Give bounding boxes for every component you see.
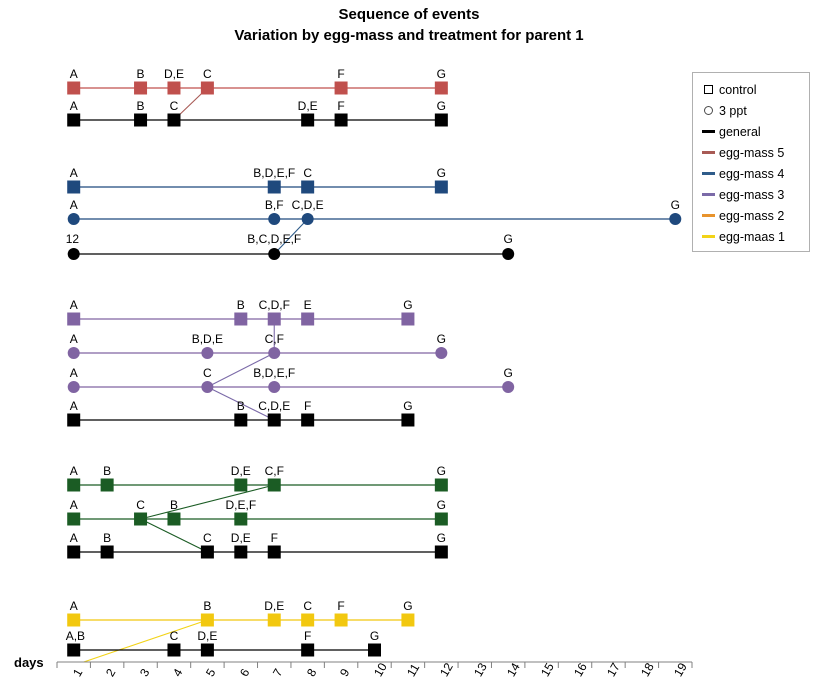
data-point-marker xyxy=(335,614,348,627)
data-point-marker xyxy=(234,546,247,559)
data-point-marker xyxy=(435,479,448,492)
legend-line-icon xyxy=(700,188,716,202)
data-point-label: E xyxy=(304,299,312,311)
data-point-marker xyxy=(435,546,448,559)
data-point-marker xyxy=(167,644,180,657)
data-point-label: F xyxy=(337,100,344,112)
data-point-label: D,E xyxy=(298,100,318,112)
data-point-label: D,E xyxy=(264,600,284,612)
data-point-marker xyxy=(234,479,247,492)
data-point-label: 12 xyxy=(66,233,79,245)
data-point-marker xyxy=(268,381,280,393)
data-point-marker xyxy=(268,479,281,492)
line-icon xyxy=(702,151,715,154)
data-point-marker xyxy=(68,213,80,225)
data-point-label: G xyxy=(437,333,446,345)
data-point-marker xyxy=(134,82,147,95)
connector-line xyxy=(84,620,208,662)
legend-item[interactable]: egg-mass 4 xyxy=(693,163,809,184)
line-icon xyxy=(702,235,715,238)
data-point-label: G xyxy=(437,532,446,544)
legend-line-icon xyxy=(700,125,716,139)
data-point-marker xyxy=(268,181,281,194)
data-point-marker xyxy=(201,546,214,559)
data-point-label: C xyxy=(203,367,212,379)
data-point-label: C xyxy=(170,100,179,112)
legend-item[interactable]: egg-mass 2 xyxy=(693,205,809,226)
data-point-label: F xyxy=(304,630,311,642)
data-point-marker xyxy=(167,82,180,95)
data-point-label: C xyxy=(203,68,212,80)
data-point-marker xyxy=(234,313,247,326)
data-point-label: C,D,F xyxy=(259,299,290,311)
data-point-marker xyxy=(201,644,214,657)
data-point-label: F xyxy=(337,68,344,80)
data-point-marker xyxy=(68,347,80,359)
data-point-label: G xyxy=(437,499,446,511)
data-point-label: B,C,D,E,F xyxy=(247,233,301,245)
legend-square-icon xyxy=(700,83,716,97)
legend-item-label: egg-mass 3 xyxy=(719,188,784,202)
data-point-label: G xyxy=(504,233,513,245)
legend-item-label: egg-mass 2 xyxy=(719,209,784,223)
data-point-label: B xyxy=(137,100,145,112)
data-point-label: B xyxy=(237,400,245,412)
data-point-label: C,F xyxy=(265,333,284,345)
data-point-marker xyxy=(335,82,348,95)
data-point-marker xyxy=(268,614,281,627)
data-point-marker xyxy=(201,614,214,627)
legend-item-label: egg-mass 4 xyxy=(719,167,784,181)
data-point-marker xyxy=(67,414,80,427)
data-point-marker xyxy=(68,381,80,393)
data-point-label: B,D,E,F xyxy=(253,167,295,179)
data-point-label: G xyxy=(437,100,446,112)
legend-item[interactable]: egg-maas 1 xyxy=(693,226,809,247)
data-point-marker xyxy=(301,181,314,194)
data-point-marker xyxy=(435,513,448,526)
data-point-marker xyxy=(68,248,80,260)
chart-canvas: Sequence of events Variation by egg-mass… xyxy=(0,0,818,690)
legend-item[interactable]: general xyxy=(693,121,809,142)
legend-item-label: control xyxy=(719,83,757,97)
data-point-marker xyxy=(268,546,281,559)
data-point-marker xyxy=(167,513,180,526)
legend-line-icon xyxy=(700,209,716,223)
data-point-label: G xyxy=(403,600,412,612)
data-point-marker xyxy=(201,347,213,359)
data-point-label: B,F xyxy=(265,199,284,211)
data-point-label: C xyxy=(303,167,312,179)
data-point-marker xyxy=(335,114,348,127)
data-point-label: A xyxy=(70,600,78,612)
data-point-label: C xyxy=(303,600,312,612)
data-point-marker xyxy=(67,181,80,194)
data-point-marker xyxy=(401,614,414,627)
data-point-marker xyxy=(67,114,80,127)
data-point-marker xyxy=(268,213,280,225)
data-point-marker xyxy=(67,313,80,326)
data-point-marker xyxy=(101,479,114,492)
x-axis-title: days xyxy=(14,655,44,670)
data-point-label: D,E xyxy=(231,532,251,544)
data-point-marker xyxy=(134,513,147,526)
data-point-marker xyxy=(435,114,448,127)
data-point-marker xyxy=(302,213,314,225)
data-point-marker xyxy=(67,614,80,627)
data-point-label: D,E,F xyxy=(225,499,256,511)
data-point-marker xyxy=(301,614,314,627)
data-point-label: A xyxy=(70,167,78,179)
data-point-label: G xyxy=(504,367,513,379)
data-point-label: A xyxy=(70,499,78,511)
data-point-label: F xyxy=(271,532,278,544)
data-point-label: G xyxy=(403,299,412,311)
legend-line-icon xyxy=(700,167,716,181)
data-point-label: A xyxy=(70,367,78,379)
legend-item-label: 3 ppt xyxy=(719,104,747,118)
data-point-marker xyxy=(201,381,213,393)
data-point-marker xyxy=(268,414,281,427)
data-point-marker xyxy=(301,414,314,427)
data-point-marker xyxy=(167,114,180,127)
data-point-label: B xyxy=(170,499,178,511)
line-icon xyxy=(702,214,715,217)
data-point-label: D,E xyxy=(164,68,184,80)
data-point-label: F xyxy=(304,400,311,412)
data-point-marker xyxy=(67,82,80,95)
line-icon xyxy=(702,172,715,175)
data-point-marker xyxy=(368,644,381,657)
legend-item[interactable]: egg-mass 5 xyxy=(693,142,809,163)
data-point-label: A xyxy=(70,400,78,412)
line-icon xyxy=(702,193,715,196)
line-icon xyxy=(702,130,715,133)
data-point-label: G xyxy=(370,630,379,642)
data-point-label: F xyxy=(337,600,344,612)
data-point-marker xyxy=(435,347,447,359)
data-point-label: B,D,E,F xyxy=(253,367,295,379)
legend-line-icon xyxy=(700,146,716,160)
data-point-marker xyxy=(401,313,414,326)
data-point-label: C xyxy=(170,630,179,642)
data-point-label: B xyxy=(103,532,111,544)
data-point-label: B xyxy=(237,299,245,311)
data-point-label: G xyxy=(437,167,446,179)
data-point-label: C,D,E xyxy=(292,199,324,211)
legend-line-icon xyxy=(700,230,716,244)
data-point-label: B xyxy=(137,68,145,80)
data-point-marker xyxy=(301,114,314,127)
data-point-label: G xyxy=(403,400,412,412)
data-point-marker xyxy=(67,546,80,559)
legend-item-label: egg-mass 5 xyxy=(719,146,784,160)
data-point-marker xyxy=(435,181,448,194)
data-point-marker xyxy=(101,546,114,559)
legend-item-label: general xyxy=(719,125,761,139)
data-point-marker xyxy=(234,414,247,427)
data-point-label: D,E xyxy=(231,465,251,477)
data-point-marker xyxy=(67,479,80,492)
data-point-marker xyxy=(268,313,281,326)
data-point-label: A xyxy=(70,465,78,477)
data-point-marker xyxy=(134,114,147,127)
data-point-marker xyxy=(301,313,314,326)
data-point-marker xyxy=(301,644,314,657)
data-point-label: G xyxy=(437,68,446,80)
data-point-label: C xyxy=(136,499,145,511)
square-icon xyxy=(704,85,713,94)
data-point-label: A,B xyxy=(66,630,85,642)
data-point-label: B xyxy=(103,465,111,477)
data-point-label: G xyxy=(437,465,446,477)
data-point-marker xyxy=(67,513,80,526)
data-point-marker xyxy=(201,82,214,95)
data-point-label: G xyxy=(671,199,680,211)
data-point-label: D,E xyxy=(197,630,217,642)
legend-item[interactable]: control xyxy=(693,79,809,100)
legend-item-label: egg-maas 1 xyxy=(719,230,785,244)
data-point-marker xyxy=(502,381,514,393)
data-point-marker xyxy=(234,513,247,526)
data-point-label: C,D,E xyxy=(258,400,290,412)
data-point-label: C,F xyxy=(265,465,284,477)
data-point-label: A xyxy=(70,299,78,311)
chart-legend: control3 pptgeneralegg-mass 5egg-mass 4e… xyxy=(692,72,810,252)
data-point-marker xyxy=(435,82,448,95)
data-point-label: A xyxy=(70,100,78,112)
data-point-label: A xyxy=(70,532,78,544)
circle-icon xyxy=(704,106,713,115)
data-point-marker xyxy=(268,248,280,260)
data-point-marker xyxy=(502,248,514,260)
data-point-label: C xyxy=(203,532,212,544)
legend-item[interactable]: egg-mass 3 xyxy=(693,184,809,205)
data-point-label: B xyxy=(203,600,211,612)
data-point-marker xyxy=(401,414,414,427)
data-point-label: A xyxy=(70,199,78,211)
data-point-label: A xyxy=(70,333,78,345)
legend-circle-icon xyxy=(700,104,716,118)
data-point-marker xyxy=(669,213,681,225)
data-point-label: A xyxy=(70,68,78,80)
data-point-marker xyxy=(67,644,80,657)
legend-item[interactable]: 3 ppt xyxy=(693,100,809,121)
data-point-marker xyxy=(268,347,280,359)
data-point-label: B,D,E xyxy=(192,333,223,345)
